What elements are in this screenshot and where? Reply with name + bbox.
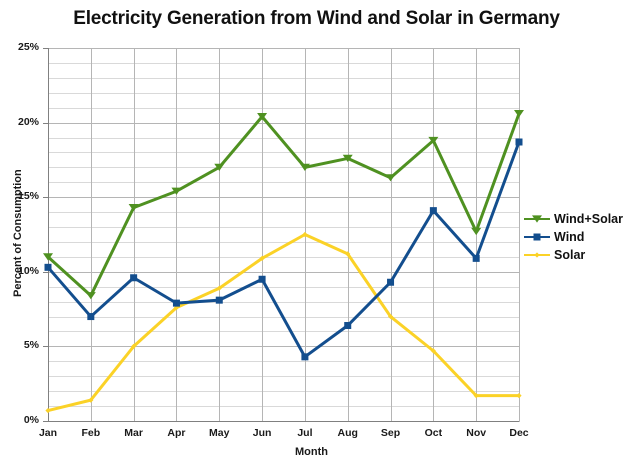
- data-point-marker: [217, 286, 222, 291]
- chart-title: Electricity Generation from Wind and Sol…: [0, 8, 623, 30]
- x-axis-title: Month: [0, 446, 623, 458]
- data-point-marker: [129, 204, 139, 211]
- data-point-marker: [471, 228, 481, 235]
- data-point-marker: [473, 255, 480, 262]
- data-point-marker: [387, 279, 394, 286]
- data-point-marker: [474, 393, 479, 398]
- data-point-marker: [45, 264, 52, 271]
- legend-label: Solar: [554, 248, 585, 262]
- data-point-marker: [302, 232, 307, 237]
- y-tick-label: 25%: [0, 41, 39, 53]
- data-point-marker: [344, 322, 351, 329]
- series-solar: [45, 232, 521, 413]
- legend-swatch-icon: [524, 231, 550, 243]
- data-point-marker: [88, 398, 93, 403]
- chart-legend: Wind+SolarWindSolar: [524, 210, 623, 264]
- data-point-marker: [431, 348, 436, 353]
- data-point-marker: [386, 174, 396, 181]
- y-tick-label: 10%: [0, 265, 39, 277]
- legend-label: Wind+Solar: [554, 212, 623, 226]
- y-tick-label: 5%: [0, 339, 39, 351]
- data-point-marker: [173, 300, 180, 307]
- series-wind-solar: [43, 110, 524, 299]
- x-tick-label-dec: Dec: [494, 427, 544, 439]
- data-point-marker: [259, 276, 266, 283]
- y-axis-title: Percent of Consumption: [12, 169, 24, 297]
- y-tick-label: 15%: [0, 190, 39, 202]
- y-tick-label: 0%: [0, 414, 39, 426]
- legend-item-wind-solar[interactable]: Wind+Solar: [524, 210, 623, 228]
- legend-swatch-icon: [524, 213, 550, 225]
- data-point-marker: [301, 353, 308, 360]
- data-point-marker: [516, 138, 523, 145]
- legend-item-wind[interactable]: Wind: [524, 228, 623, 246]
- axis-spines: [48, 48, 520, 422]
- data-point-marker: [130, 274, 137, 281]
- data-point-marker: [345, 251, 350, 256]
- y-axis-ticks: [43, 49, 48, 422]
- data-point-marker: [534, 252, 539, 257]
- data-point-marker: [534, 234, 541, 241]
- grid-major-horizontal: [48, 49, 519, 422]
- data-point-marker: [430, 207, 437, 214]
- data-point-marker: [86, 292, 96, 299]
- data-point-marker: [214, 164, 224, 171]
- data-point-marker: [45, 408, 50, 413]
- data-point-marker: [388, 314, 393, 319]
- data-point-marker: [259, 256, 264, 261]
- data-point-marker: [428, 137, 438, 144]
- legend-item-solar[interactable]: Solar: [524, 246, 623, 264]
- data-point-marker: [300, 164, 310, 171]
- data-point-marker: [171, 188, 181, 195]
- data-point-marker: [131, 344, 136, 349]
- data-point-marker: [514, 110, 524, 117]
- data-point-marker: [257, 113, 267, 120]
- legend-swatch-icon: [524, 249, 550, 261]
- data-point-marker: [87, 313, 94, 320]
- chart-container: Electricity Generation from Wind and Sol…: [0, 0, 623, 467]
- grid-minor-horizontal: [48, 49, 519, 422]
- series-wind: [45, 138, 523, 360]
- data-point-marker: [216, 297, 223, 304]
- data-point-marker: [532, 215, 542, 222]
- y-tick-label: 20%: [0, 116, 39, 128]
- grid-vertical: [49, 48, 520, 421]
- legend-label: Wind: [554, 230, 584, 244]
- data-point-marker: [516, 393, 521, 398]
- data-point-marker: [43, 253, 53, 260]
- data-point-marker: [343, 155, 353, 162]
- data-point-marker: [174, 305, 179, 310]
